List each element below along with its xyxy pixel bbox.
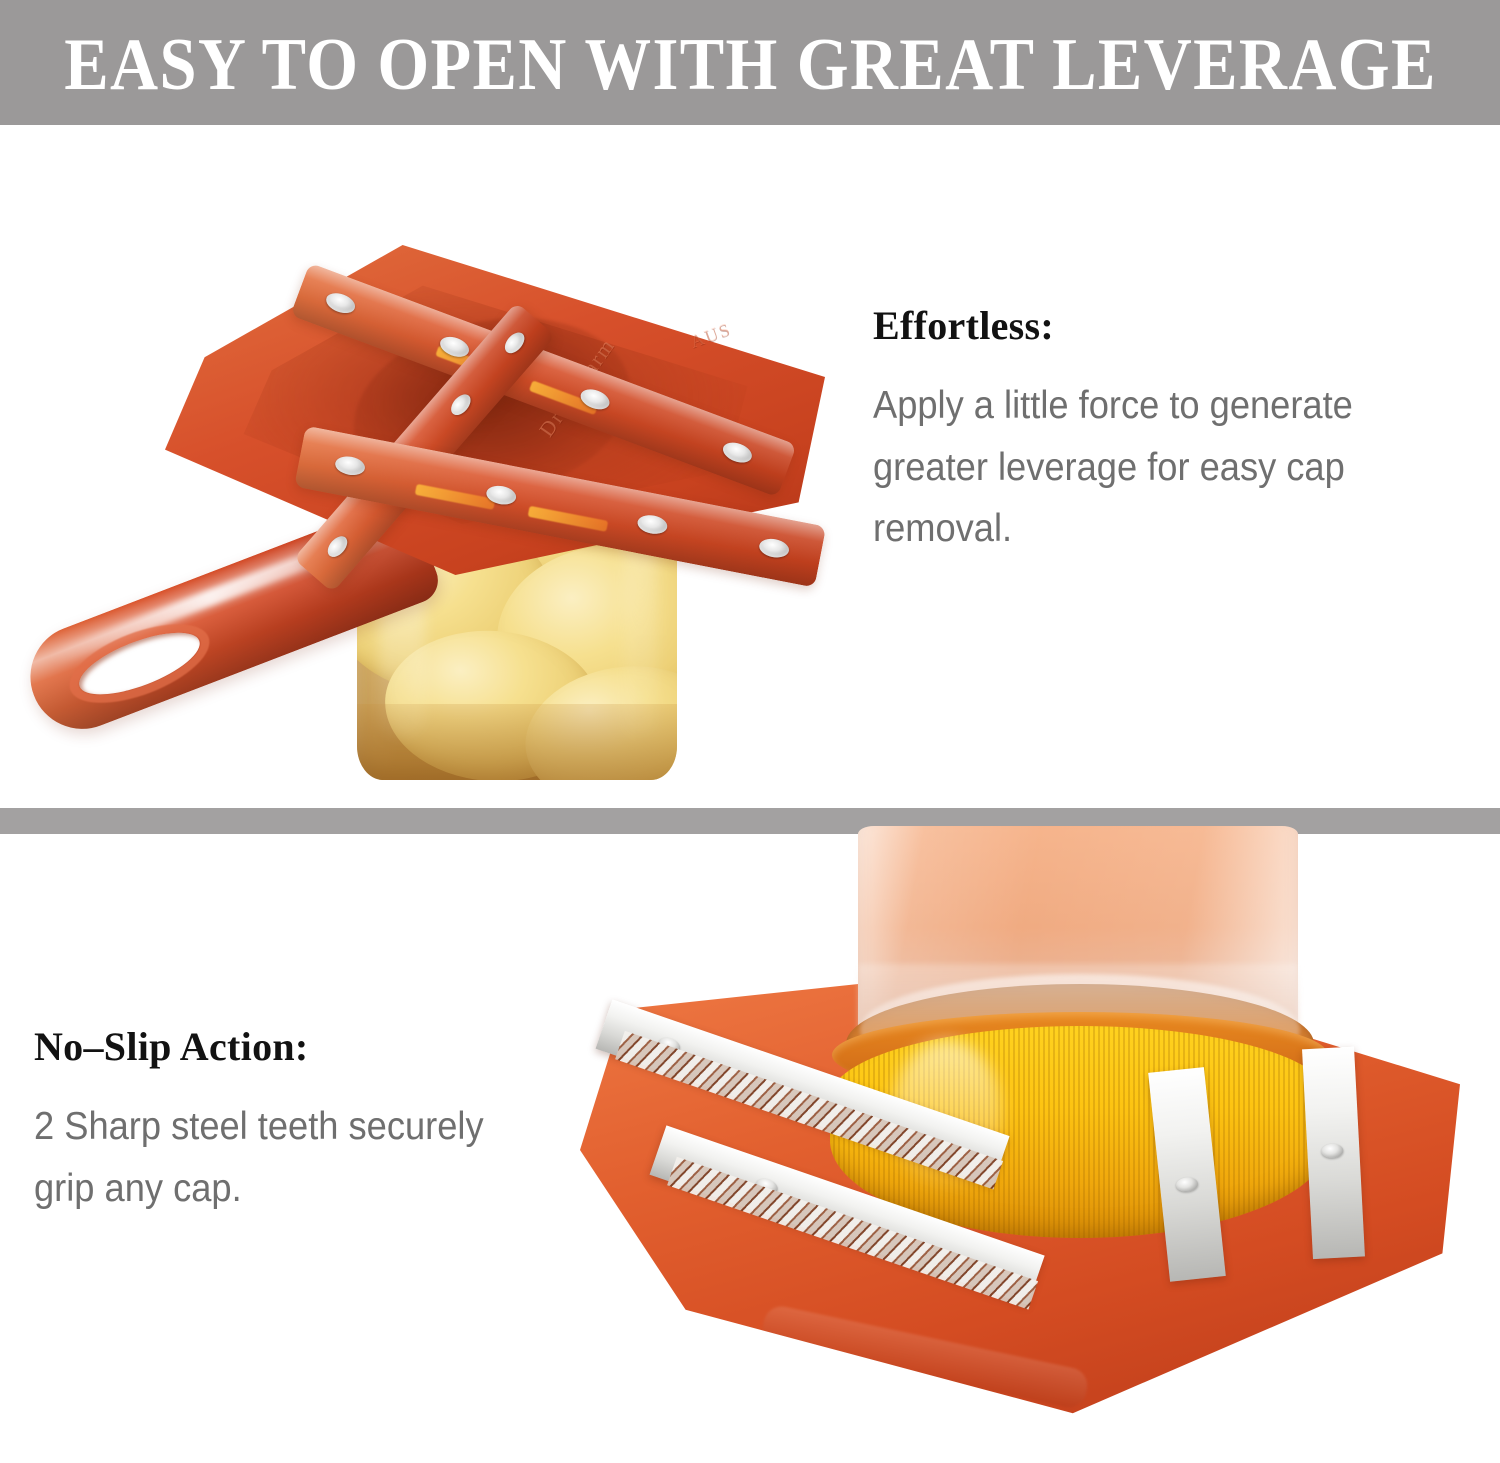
no-slip-copy-block: No–Slip Action: 2 Sharp steel teeth secu… (34, 1026, 594, 1219)
base-embossed-mark (759, 1303, 1090, 1411)
header-banner: EASY TO OPEN WITH GREAT LEVERAGE (0, 0, 1500, 125)
rivet (324, 533, 351, 561)
rivet (334, 454, 367, 477)
rivet (447, 391, 474, 419)
no-slip-heading: No–Slip Action: (34, 1026, 594, 1068)
rivet (323, 289, 357, 316)
rivet (720, 439, 754, 466)
effortless-body-text: Apply a little force to generate greater… (873, 375, 1473, 560)
no-slip-body-text: 2 Sharp steel teeth securely grip any ca… (34, 1096, 518, 1219)
rivet (1321, 1143, 1344, 1158)
effortless-copy-block: Effortless: Apply a little force to gene… (873, 305, 1473, 560)
rivet (636, 513, 669, 536)
steel-strip-right-back (1302, 1047, 1365, 1259)
jar-opener-tool: Dreamfarm AUS (0, 125, 860, 645)
feature-panel-no-slip: No–Slip Action: 2 Sharp steel teeth secu… (0, 834, 1500, 1463)
feature-panel-effortless: Dreamfarm AUS (0, 125, 1500, 808)
page-title: EASY TO OPEN WITH GREAT LEVERAGE (64, 24, 1436, 102)
jaw-slot (415, 484, 496, 510)
product-photo-teeth-grip (560, 834, 1500, 1463)
rivet (501, 329, 528, 357)
rivet (758, 536, 791, 559)
effortless-heading: Effortless: (873, 305, 1473, 347)
rivet (1175, 1176, 1198, 1192)
jaw-slot (528, 506, 609, 532)
product-photo-opener-on-jar: Dreamfarm AUS (0, 125, 860, 808)
